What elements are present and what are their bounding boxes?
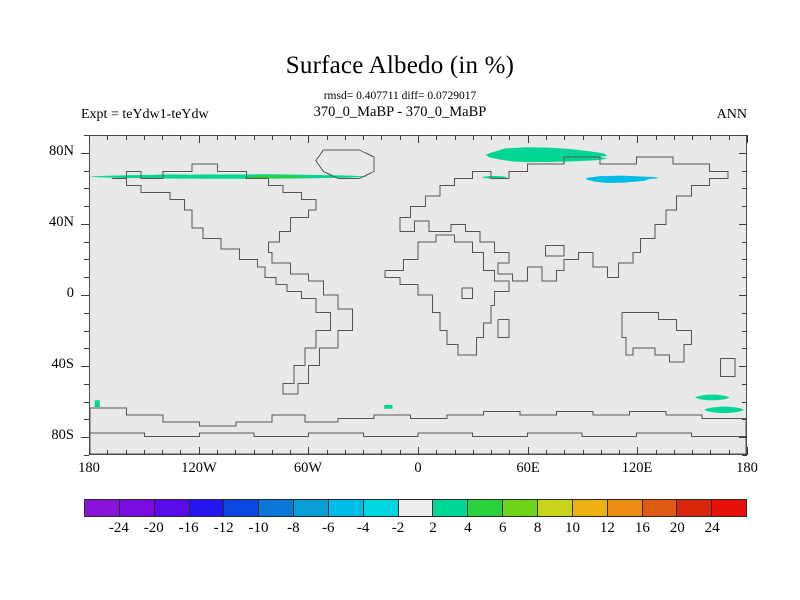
coastline-segment-4 bbox=[498, 320, 509, 338]
xtick-top-90 bbox=[583, 135, 584, 140]
ylabel-80N: 80N bbox=[18, 143, 74, 160]
xtick-40 bbox=[491, 450, 492, 455]
ytick--10 bbox=[84, 313, 89, 314]
xtick-top-50 bbox=[509, 135, 510, 140]
xtick-170 bbox=[729, 450, 730, 455]
xtick--150 bbox=[144, 450, 145, 455]
ytick-20 bbox=[84, 259, 89, 260]
ytick-right-60 bbox=[742, 188, 747, 189]
xlabel-120E: 120E bbox=[602, 460, 672, 477]
anomaly-siberia-arctic-blob bbox=[485, 147, 607, 162]
xtick-top--70 bbox=[290, 135, 291, 140]
coastline-segment-0 bbox=[112, 164, 353, 394]
ytick--20 bbox=[84, 331, 89, 332]
xtick-top--130 bbox=[180, 135, 181, 140]
ytick-right-20 bbox=[742, 259, 747, 260]
colorbar-tick-labels: -24-20-16-12-10-8-6-4-224681012162024 bbox=[84, 520, 747, 542]
ytick-right--40 bbox=[739, 366, 747, 367]
colorbar-cell-18[interactable] bbox=[712, 500, 746, 516]
ytick--30 bbox=[84, 348, 89, 349]
xtick-180 bbox=[747, 447, 748, 455]
ylabel-80S: 80S bbox=[18, 427, 74, 444]
ytick-40 bbox=[81, 224, 89, 225]
ytick-right--10 bbox=[742, 313, 747, 314]
xtick-top--160 bbox=[126, 135, 127, 140]
xtick-30 bbox=[473, 450, 474, 455]
colorbar-tick-8: 8 bbox=[534, 520, 542, 537]
ytick-right--60 bbox=[742, 402, 747, 403]
colorbar-cell-0[interactable] bbox=[85, 500, 120, 516]
ytick-right-80 bbox=[739, 153, 747, 154]
ytick-right--80 bbox=[739, 437, 747, 438]
xtick--10 bbox=[400, 450, 401, 455]
xtick-top-140 bbox=[674, 135, 675, 140]
ytick-right--50 bbox=[742, 384, 747, 385]
xtick-top-70 bbox=[546, 135, 547, 140]
anomaly-southeast-patch-upper bbox=[695, 395, 730, 401]
ytick--40 bbox=[81, 366, 89, 367]
ytick--80 bbox=[81, 437, 89, 438]
colorbar-tick--4: -4 bbox=[357, 520, 370, 537]
xtick-top--180 bbox=[89, 135, 90, 143]
coastline-segment-6 bbox=[546, 246, 564, 257]
xtick--110 bbox=[217, 450, 218, 455]
colorbar-cell-15[interactable] bbox=[608, 500, 643, 516]
xtick--80 bbox=[272, 450, 273, 455]
xtick-90 bbox=[583, 450, 584, 455]
colorbar-cell-2[interactable] bbox=[155, 500, 190, 516]
colorbar-cell-5[interactable] bbox=[259, 500, 294, 516]
xlabel-120W: 120W bbox=[164, 460, 234, 477]
xtick--170 bbox=[107, 450, 108, 455]
anomaly-shading-layer bbox=[90, 147, 744, 413]
xtick-80 bbox=[564, 450, 565, 455]
xtick--120 bbox=[199, 447, 200, 455]
xtick-top--170 bbox=[107, 135, 108, 140]
xtick-top--10 bbox=[400, 135, 401, 140]
anomaly-south-africa-speck bbox=[384, 405, 392, 409]
colorbar-cell-14[interactable] bbox=[573, 500, 608, 516]
xtick-top-100 bbox=[601, 135, 602, 140]
ylabel-0: 0 bbox=[18, 285, 74, 302]
xtick-top-120 bbox=[637, 135, 638, 143]
xtick-0 bbox=[418, 447, 419, 455]
xtick-70 bbox=[546, 450, 547, 455]
ytick-right-50 bbox=[742, 206, 747, 207]
ytick-right-70 bbox=[742, 171, 747, 172]
xlabel-60E: 60E bbox=[493, 460, 563, 477]
colorbar-tick--6: -6 bbox=[322, 520, 335, 537]
xtick-top-20 bbox=[455, 135, 456, 140]
climate-anomaly-figure: Surface Albedo (in %) rmsd= 0.407711 dif… bbox=[0, 0, 800, 600]
xtick-top-80 bbox=[564, 135, 565, 140]
xtick--70 bbox=[290, 450, 291, 455]
xtick--40 bbox=[345, 450, 346, 455]
colorbar-tick-20: 20 bbox=[670, 520, 685, 537]
colorbar[interactable] bbox=[84, 499, 747, 517]
colorbar-cell-9[interactable] bbox=[399, 500, 434, 516]
ytick--70 bbox=[84, 419, 89, 420]
colorbar-tick-4: 4 bbox=[464, 520, 472, 537]
ytick-10 bbox=[84, 277, 89, 278]
xtick-top--50 bbox=[327, 135, 328, 140]
xtick-top-130 bbox=[656, 135, 657, 140]
colorbar-cell-10[interactable] bbox=[433, 500, 468, 516]
colorbar-cell-17[interactable] bbox=[677, 500, 712, 516]
coastline-segment-8 bbox=[720, 359, 735, 377]
xlabel-180: 180 bbox=[54, 460, 124, 477]
colorbar-tick--10: -10 bbox=[248, 520, 268, 537]
colorbar-cell-6[interactable] bbox=[294, 500, 329, 516]
xtick-top--80 bbox=[272, 135, 273, 140]
coastline-layer bbox=[90, 150, 746, 454]
colorbar-tick--2: -2 bbox=[392, 520, 405, 537]
colorbar-cell-16[interactable] bbox=[643, 500, 678, 516]
xtick-20 bbox=[455, 450, 456, 455]
ytick-right--90 bbox=[742, 455, 747, 456]
anomaly-antarctic-peninsula-speck bbox=[95, 400, 100, 407]
coastline-segment-3 bbox=[385, 235, 509, 355]
coastline-segment-5 bbox=[462, 288, 473, 299]
xtick--60 bbox=[308, 447, 309, 455]
season-label: ANN bbox=[717, 107, 747, 123]
colorbar-tick-6: 6 bbox=[499, 520, 507, 537]
colorbar-tick-16: 16 bbox=[635, 520, 650, 537]
xtick-top--60 bbox=[308, 135, 309, 143]
colorbar-tick-12: 12 bbox=[600, 520, 615, 537]
xtick-50 bbox=[509, 450, 510, 455]
map-plot-area bbox=[89, 135, 747, 455]
xtick-top-60 bbox=[528, 135, 529, 143]
xtick-top-170 bbox=[729, 135, 730, 140]
xtick-top-110 bbox=[619, 135, 620, 140]
xtick--100 bbox=[235, 450, 236, 455]
xtick-top-30 bbox=[473, 135, 474, 140]
anomaly-east-siberia-negative bbox=[586, 176, 652, 183]
colorbar-cell-8[interactable] bbox=[364, 500, 399, 516]
xtick-top--140 bbox=[162, 135, 163, 140]
ytick-right-30 bbox=[742, 242, 747, 243]
ytick-right--30 bbox=[742, 348, 747, 349]
xtick-130 bbox=[656, 450, 657, 455]
colorbar-tick--20: -20 bbox=[144, 520, 164, 537]
coastline-segment-2 bbox=[400, 157, 728, 281]
colorbar-tick-2: 2 bbox=[429, 520, 437, 537]
xtick--90 bbox=[254, 450, 255, 455]
colorbar-cell-3[interactable] bbox=[190, 500, 225, 516]
xtick-120 bbox=[637, 447, 638, 455]
xtick--130 bbox=[180, 450, 181, 455]
colorbar-tick-24: 24 bbox=[705, 520, 720, 537]
xtick--160 bbox=[126, 450, 127, 455]
coastline-segment-7 bbox=[622, 313, 691, 362]
ytick-80 bbox=[81, 153, 89, 154]
ytick-50 bbox=[84, 206, 89, 207]
ytick-70 bbox=[84, 171, 89, 172]
xtick-top--100 bbox=[235, 135, 236, 140]
xtick-top-180 bbox=[747, 135, 748, 143]
ytick-right--20 bbox=[742, 331, 747, 332]
colorbar-tick--16: -16 bbox=[179, 520, 199, 537]
xtick-140 bbox=[674, 450, 675, 455]
xtick-top--150 bbox=[144, 135, 145, 140]
ytick--60 bbox=[84, 402, 89, 403]
xtick-150 bbox=[692, 450, 693, 455]
xtick--20 bbox=[381, 450, 382, 455]
coastline-segment-1 bbox=[316, 150, 374, 178]
xtick-top--20 bbox=[381, 135, 382, 140]
xtick--50 bbox=[327, 450, 328, 455]
xtick-top--110 bbox=[217, 135, 218, 140]
coastline-segment-10 bbox=[90, 433, 746, 436]
ylabel-40S: 40S bbox=[18, 356, 74, 373]
xtick-110 bbox=[619, 450, 620, 455]
colorbar-tick--24: -24 bbox=[109, 520, 129, 537]
ytick-right-40 bbox=[739, 224, 747, 225]
xtick-60 bbox=[528, 447, 529, 455]
xtick-top-10 bbox=[436, 135, 437, 140]
experiment-label: Expt = teYdw1-teYdw bbox=[81, 107, 209, 123]
colorbar-cell-7[interactable] bbox=[329, 500, 364, 516]
colorbar-cell-4[interactable] bbox=[224, 500, 259, 516]
anomaly-southeast-patch-lower bbox=[704, 407, 744, 413]
xtick-top--120 bbox=[199, 135, 200, 143]
ytick-right--70 bbox=[742, 419, 747, 420]
xtick-top--40 bbox=[345, 135, 346, 140]
ytick-0 bbox=[81, 295, 89, 296]
colorbar-tick-10: 10 bbox=[565, 520, 580, 537]
xtick-top-150 bbox=[692, 135, 693, 140]
xtick-top-0 bbox=[418, 135, 419, 143]
xtick-top--90 bbox=[254, 135, 255, 140]
ytick-right-10 bbox=[742, 277, 747, 278]
colorbar-tick--8: -8 bbox=[287, 520, 300, 537]
ytick-right-0 bbox=[739, 295, 747, 296]
page-title: Surface Albedo (in %) bbox=[0, 52, 800, 80]
xlabel-0: 0 bbox=[383, 460, 453, 477]
xtick-top--30 bbox=[363, 135, 364, 140]
colorbar-cell-11[interactable] bbox=[468, 500, 503, 516]
xtick--30 bbox=[363, 450, 364, 455]
colorbar-tick--12: -12 bbox=[214, 520, 234, 537]
statistics-subtitle: rmsd= 0.407711 diff= 0.0729017 bbox=[0, 90, 800, 102]
colorbar-cell-1[interactable] bbox=[120, 500, 155, 516]
xlabel-180: 180 bbox=[712, 460, 782, 477]
xtick-top-160 bbox=[710, 135, 711, 140]
xtick--180 bbox=[89, 447, 90, 455]
xtick-160 bbox=[710, 450, 711, 455]
ytick-60 bbox=[84, 188, 89, 189]
xtick-100 bbox=[601, 450, 602, 455]
xtick-top-40 bbox=[491, 135, 492, 140]
colorbar-cell-13[interactable] bbox=[538, 500, 573, 516]
ytick--50 bbox=[84, 384, 89, 385]
colorbar-cell-12[interactable] bbox=[503, 500, 538, 516]
ylabel-40N: 40N bbox=[18, 214, 74, 231]
ytick-30 bbox=[84, 242, 89, 243]
map-canvas bbox=[90, 136, 746, 454]
xtick--140 bbox=[162, 450, 163, 455]
ytick--90 bbox=[84, 455, 89, 456]
xtick-10 bbox=[436, 450, 437, 455]
xlabel-60W: 60W bbox=[273, 460, 343, 477]
